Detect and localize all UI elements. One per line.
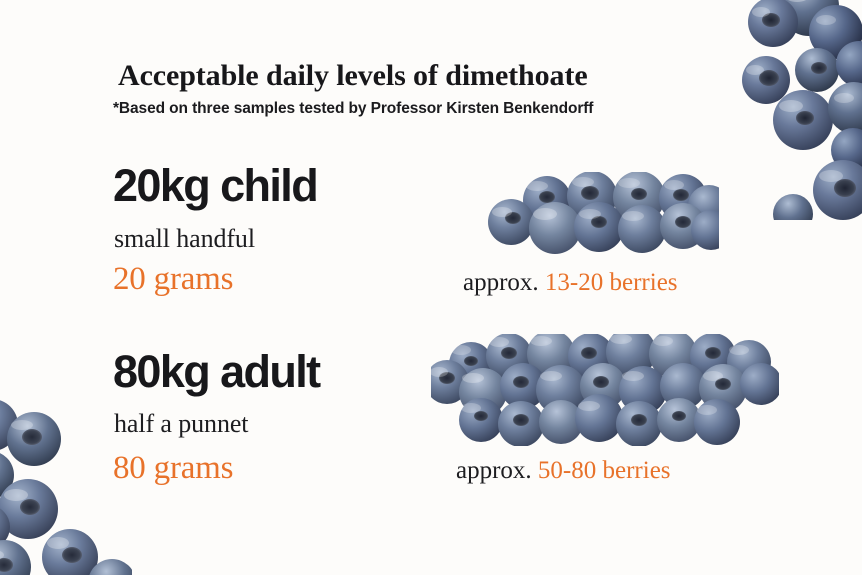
adult-portion-label: half a punnet [114, 411, 248, 437]
child-approx-line: approx. 13-20 berries [463, 270, 678, 295]
adult-grams-value: 80 grams [113, 452, 233, 485]
page-title: Acceptable daily levels of dimethoate [118, 59, 588, 93]
adult-weight-label: 80kg adult [113, 349, 320, 394]
small-blueberry-cluster [487, 172, 719, 257]
adult-approx-line: approx. 50-80 berries [456, 458, 671, 483]
infographic-canvas: Acceptable daily levels of dimethoate *B… [0, 0, 862, 575]
adult-approx-label: approx. [456, 457, 532, 484]
child-portion-label: small handful [114, 226, 255, 252]
child-weight-label: 20kg child [113, 163, 317, 208]
child-berry-count: 13-20 berries [545, 269, 678, 296]
large-blueberry-cluster [431, 334, 779, 446]
child-approx-label: approx. [463, 269, 539, 296]
bottom-left-blueberries [0, 397, 132, 575]
child-grams-value: 20 grams [113, 263, 233, 296]
adult-berry-count: 50-80 berries [538, 457, 671, 484]
page-subtitle: *Based on three samples tested by Profes… [113, 100, 593, 118]
top-right-blueberries [733, 0, 862, 220]
